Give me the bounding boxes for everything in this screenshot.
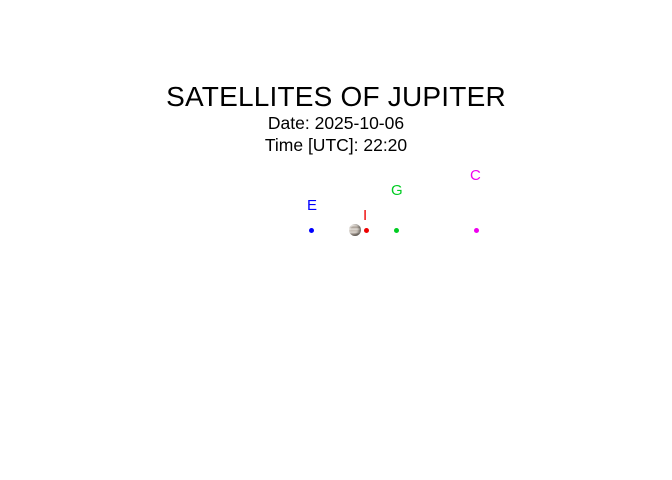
- moon-dot-callisto: [474, 228, 479, 233]
- moon-label-europa: E: [307, 198, 317, 213]
- sky-plot-area: EIGC: [0, 0, 672, 480]
- moon-label-ganymede: G: [391, 183, 403, 198]
- moon-label-io: I: [363, 208, 367, 223]
- moon-label-callisto: C: [470, 168, 481, 183]
- moon-dot-europa: [309, 228, 314, 233]
- jupiter-disk: [349, 224, 361, 236]
- moon-dot-ganymede: [394, 228, 399, 233]
- jupiter-satellites-view: SATELLITES OF JUPITER Date: 2025-10-06 T…: [0, 0, 672, 480]
- moon-dot-io: [364, 228, 369, 233]
